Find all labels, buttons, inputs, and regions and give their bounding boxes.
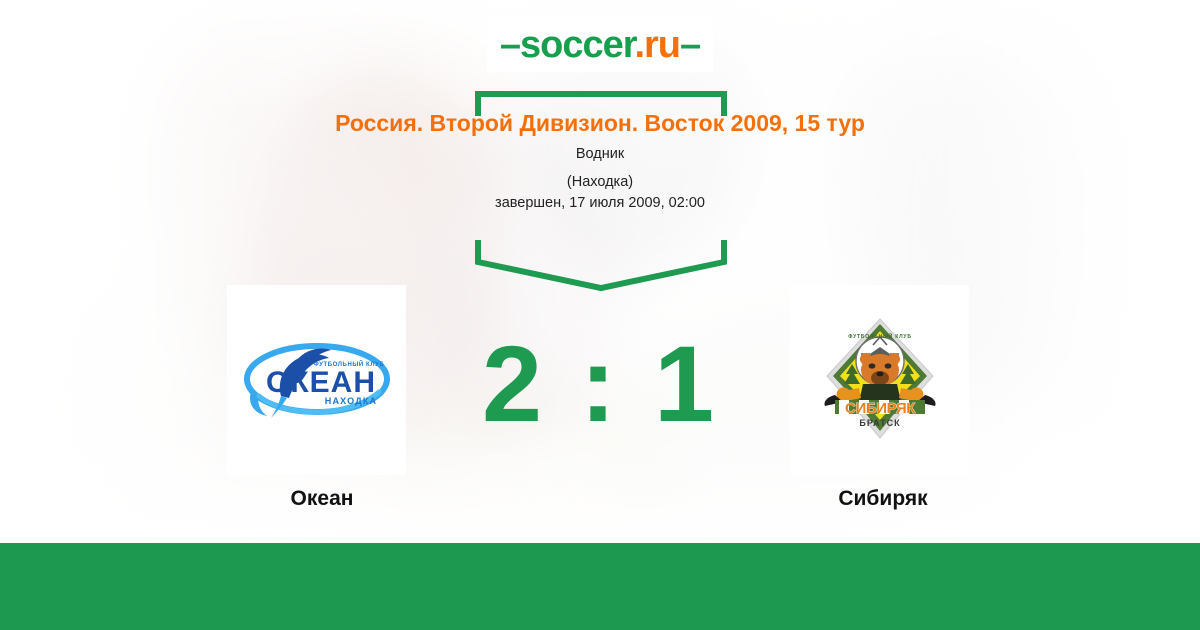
stadium-name: Водник (300, 144, 900, 165)
svg-text:БРАТСК: БРАТСК (859, 418, 900, 428)
stadium-city: (Находка) (300, 172, 900, 193)
background-white-wash (0, 0, 1200, 630)
home-crest-container[interactable]: ОКЕАН ФУТБОЛЬНЫЙ КЛУБ НАХОДКА (227, 285, 406, 475)
footer-green-band (0, 543, 1200, 630)
match-summary-card: –soccer.ru– Россия. Второй Дивизион. Вос… (0, 0, 1200, 630)
sibiryak-bratsk-crest-icon: СИБИРЯК БРАТСК ФУТБОЛЬНЫЙ КЛУБ (821, 316, 939, 444)
svg-text:ФУТБОЛЬНЫЙ КЛУБ: ФУТБОЛЬНЫЙ КЛУБ (848, 332, 911, 340)
okean-nakhodka-crest-icon: ОКЕАН ФУТБОЛЬНЫЙ КЛУБ НАХОДКА (237, 334, 397, 426)
svg-text:СИБИРЯК: СИБИРЯК (845, 400, 916, 417)
away-crest-container[interactable]: СИБИРЯК БРАТСК ФУТБОЛЬНЫЙ КЛУБ (790, 285, 969, 475)
competition-title[interactable]: Россия. Второй Дивизион. Восток 2009, 15… (300, 108, 900, 138)
logo-wordmark: soccer (520, 24, 634, 66)
logo-tld: .ru (634, 24, 680, 66)
logo-dash-right-icon: – (680, 24, 700, 66)
svg-text:НАХОДКА: НАХОДКА (324, 396, 376, 406)
home-team-name[interactable]: Океан (192, 487, 452, 511)
match-score: 2 : 1 (420, 330, 780, 438)
away-team-name[interactable]: Сибиряк (753, 487, 1013, 511)
site-logo[interactable]: –soccer.ru– (487, 18, 713, 72)
svg-text:ФУТБОЛЬНЫЙ КЛУБ: ФУТБОЛЬНЫЙ КЛУБ (313, 360, 384, 368)
match-status: завершен, 17 июля 2009, 02:00 (300, 193, 900, 214)
match-meta: Россия. Второй Дивизион. Восток 2009, 15… (300, 108, 900, 215)
svg-text:ОКЕАН: ОКЕАН (266, 366, 376, 399)
logo-dash-left-icon: – (500, 24, 520, 66)
